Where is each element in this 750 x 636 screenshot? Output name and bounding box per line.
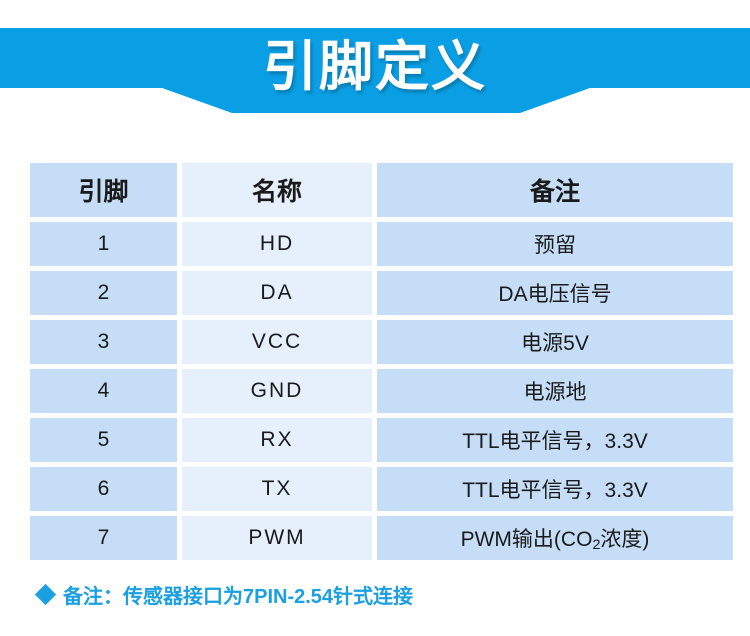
cell-pin: 6 (30, 467, 177, 511)
cell-name: VCC (182, 320, 372, 364)
cell-remark: TTL电平信号，3.3V (377, 418, 733, 462)
table-row: 5 RX TTL电平信号，3.3V (30, 418, 733, 462)
remark-prefix: PWM输出(CO (461, 528, 593, 551)
footnote: 备注：传感器接口为7PIN-2.54针式连接 (38, 580, 413, 609)
footnote-text: 备注：传感器接口为7PIN-2.54针式连接 (63, 580, 413, 609)
remark-subscript: 2 (592, 537, 600, 553)
page-title: 引脚定义 (0, 30, 750, 104)
cell-name: TX (182, 467, 372, 511)
table-row: 7 PWM PWM输出(CO2浓度) (30, 516, 733, 560)
table-row: 1 HD 预留 (30, 222, 733, 266)
cell-pin: 3 (30, 320, 177, 364)
cell-name: GND (182, 369, 372, 413)
column-header-pin: 引脚 (30, 163, 177, 217)
table-row: 6 TX TTL电平信号，3.3V (30, 467, 733, 511)
cell-pin: 7 (30, 516, 177, 560)
table-header-row: 引脚 名称 备注 (30, 163, 733, 217)
cell-remark: PWM输出(CO2浓度) (377, 516, 733, 560)
table-row: 4 GND 电源地 (30, 369, 733, 413)
cell-pin: 1 (30, 222, 177, 266)
cell-name: PWM (182, 516, 372, 560)
cell-remark: 电源地 (377, 369, 733, 413)
cell-remark: 预留 (377, 222, 733, 266)
table-row: 3 VCC 电源5V (30, 320, 733, 364)
column-header-name: 名称 (182, 163, 372, 217)
cell-pin: 4 (30, 369, 177, 413)
remark-suffix: 浓度) (600, 528, 649, 551)
cell-remark: 电源5V (377, 320, 733, 364)
cell-remark: TTL电平信号，3.3V (377, 467, 733, 511)
table-row: 2 DA DA电压信号 (30, 271, 733, 315)
cell-name: RX (182, 418, 372, 462)
pin-definition-table: 引脚 名称 备注 1 HD 预留 2 DA DA电压信号 3 VCC 电源5V … (25, 158, 738, 565)
cell-pin: 5 (30, 418, 177, 462)
cell-remark: DA电压信号 (377, 271, 733, 315)
cell-pin: 2 (30, 271, 177, 315)
header-banner: 引脚定义 (0, 28, 750, 114)
cell-name: DA (182, 271, 372, 315)
diamond-icon (35, 584, 56, 605)
column-header-remark: 备注 (377, 163, 733, 217)
cell-name: HD (182, 222, 372, 266)
